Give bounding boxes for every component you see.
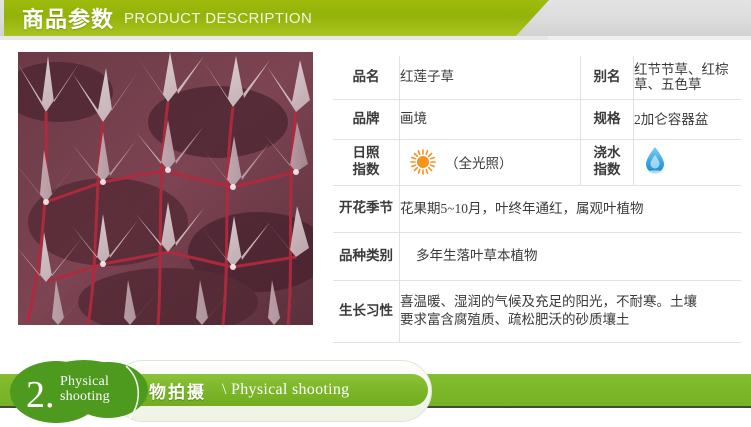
step-badge-label-line1: Physical <box>60 374 109 389</box>
spec-label-5: 品种类别 <box>333 232 400 280</box>
spec-value-2b: 2加仑容器盆 <box>634 99 742 139</box>
water-drop-icon <box>644 146 666 174</box>
table-row: 品牌 画境 规格 2加仑容器盆 <box>333 99 741 139</box>
spec-label-2: 品牌 <box>333 99 400 139</box>
product-spec-table: 品名 红莲子草 别名 红节节草、红棕草、五色草 品牌 画境 规格 2加仑容器盆 … <box>333 56 741 343</box>
page-title-cn: 商品参数 <box>22 2 114 34</box>
step-number: 2. <box>26 378 55 412</box>
table-row: 品名 红莲子草 别名 红节节草、红棕草、五色草 <box>333 56 741 99</box>
spec-label-3-line1: 日照 <box>333 145 399 162</box>
page-title-en: PRODUCT DESCRIPTION <box>124 10 312 27</box>
spec-label-1b: 别名 <box>581 56 634 99</box>
page-header: 商品参数 PRODUCT DESCRIPTION <box>0 0 751 40</box>
product-photo <box>18 52 313 325</box>
spec-value-4: 花果期5~10月，叶终年通红，属观叶植物 <box>400 185 742 232</box>
sun-index-group: （全光照） <box>400 149 580 175</box>
spec-value-1: 红莲子草 <box>400 56 581 99</box>
header-underline <box>0 36 751 40</box>
table-row: 品种类别 多年生落叶草本植物 <box>333 232 741 280</box>
header-title-group: 商品参数 PRODUCT DESCRIPTION <box>22 0 312 36</box>
banner-title-en: \ Physical shooting <box>222 381 349 399</box>
spec-value-2: 画境 <box>400 99 581 139</box>
spec-label-3b-line2: 指数 <box>581 162 633 179</box>
step-badge-label: Physical shooting <box>60 374 110 404</box>
table-row: 开花季节 花果期5~10月，叶终年通红，属观叶植物 <box>333 185 741 232</box>
section-banner: 实物拍摄 \ Physical shooting 2. Physical sho… <box>0 358 751 427</box>
spec-value-3: （全光照） <box>400 139 581 185</box>
step-badge-text-group: 2. Physical shooting <box>8 360 156 424</box>
spec-value-6: 喜温暖、湿润的气候及充足的阳光，不耐寒。土壤要求富含腐殖质、疏松肥沃的砂质壤土 <box>400 280 742 342</box>
table-row: 生长习性 喜温暖、湿润的气候及充足的阳光，不耐寒。土壤要求富含腐殖质、疏松肥沃的… <box>333 280 741 342</box>
sun-index-label: （全光照） <box>445 152 513 172</box>
sun-icon <box>410 149 436 175</box>
product-photo-image <box>18 52 313 325</box>
table-row: 日照 指数 <box>333 139 741 185</box>
spec-label-3b: 浇水 指数 <box>581 139 634 185</box>
water-index-group <box>634 146 741 178</box>
spec-label-2b: 规格 <box>581 99 634 139</box>
spec-value-3b <box>634 139 742 185</box>
step-badge-label-line2: shooting <box>60 389 110 404</box>
spec-label-3: 日照 指数 <box>333 139 400 185</box>
spec-label-1: 品名 <box>333 56 400 99</box>
spec-label-3b-line1: 浇水 <box>581 145 633 162</box>
banner-title-group: 实物拍摄 \ Physical shooting <box>130 374 349 406</box>
spec-value-1b: 红节节草、红棕草、五色草 <box>634 56 742 99</box>
spec-value-5: 多年生落叶草本植物 <box>400 232 742 280</box>
spec-label-3-line2: 指数 <box>333 162 399 179</box>
spec-label-6: 生长习性 <box>333 280 400 342</box>
spec-label-4: 开花季节 <box>333 185 400 232</box>
